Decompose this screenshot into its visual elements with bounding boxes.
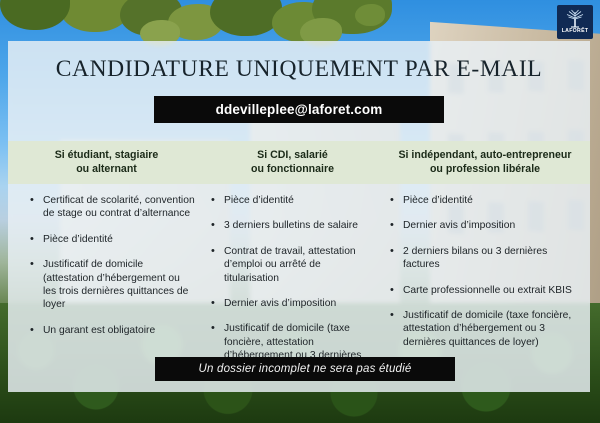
email-banner[interactable]: ddevilleplee@laforet.com <box>154 96 444 123</box>
list-item: Dernier avis d’imposition <box>211 297 374 310</box>
list-item: Certificat de scolarité, convention de s… <box>30 194 195 221</box>
list-item: Pièce d’identité <box>390 194 578 207</box>
column-header-independent: Si indépendant, auto-entrepreneur ou pro… <box>380 141 590 184</box>
list-item: Pièce d’identité <box>30 233 195 246</box>
column-headers: Si étudiant, stagiaire ou alternant Si C… <box>8 141 590 184</box>
column-header-employee: Si CDI, salarié ou fonctionnaire <box>205 141 380 184</box>
canopy-leaf <box>355 4 385 26</box>
list-item: Dernier avis d’imposition <box>390 219 578 232</box>
logo-wordmark: LAFORÊT <box>562 29 589 34</box>
list-item: Justificatif de domicile (attestation d’… <box>30 258 195 312</box>
header-line-1: Si indépendant, auto-entrepreneur <box>398 149 571 161</box>
requirements-list: Pièce d’identité Dernier avis d’impositi… <box>390 194 578 349</box>
list-item: Justificatif de domicile (taxe foncière,… <box>390 309 578 349</box>
list-item: Un garant est obligatoire <box>30 324 195 337</box>
footer-notice: Un dossier incomplet ne sera pas étudié <box>155 357 455 381</box>
laforet-logo[interactable]: LAFORÊT <box>557 5 593 39</box>
list-item: Pièce d’identité <box>211 194 374 207</box>
footer-notice-text: Un dossier incomplet ne sera pas étudié <box>199 363 412 375</box>
list-item: Contrat de travail, attestation d’emploi… <box>211 245 374 285</box>
list-item: 3 derniers bulletins de salaire <box>211 219 374 232</box>
tree-icon <box>564 9 586 28</box>
list-item: Carte professionnelle ou extrait KBIS <box>390 284 578 297</box>
header-line-1: Si étudiant, stagiaire <box>55 149 159 161</box>
column-header-student: Si étudiant, stagiaire ou alternant <box>8 141 205 184</box>
requirements-list: Certificat de scolarité, convention de s… <box>30 194 195 337</box>
header-line-1: Si CDI, salarié <box>257 149 328 161</box>
page-title: CANDIDATURE UNIQUEMENT PAR E-MAIL <box>8 56 590 83</box>
info-card: CANDIDATURE UNIQUEMENT PAR E-MAIL ddevil… <box>8 41 590 392</box>
header-line-2: ou alternant <box>76 163 137 175</box>
header-line-2: ou fonctionnaire <box>251 163 334 175</box>
requirements-list: Pièce d’identité 3 derniers bulletins de… <box>211 194 374 376</box>
contact-email: ddevilleplee@laforet.com <box>216 102 383 117</box>
header-line-2: ou profession libérale <box>430 163 540 175</box>
list-item: 2 derniers bilans ou 3 dernières facture… <box>390 245 578 272</box>
